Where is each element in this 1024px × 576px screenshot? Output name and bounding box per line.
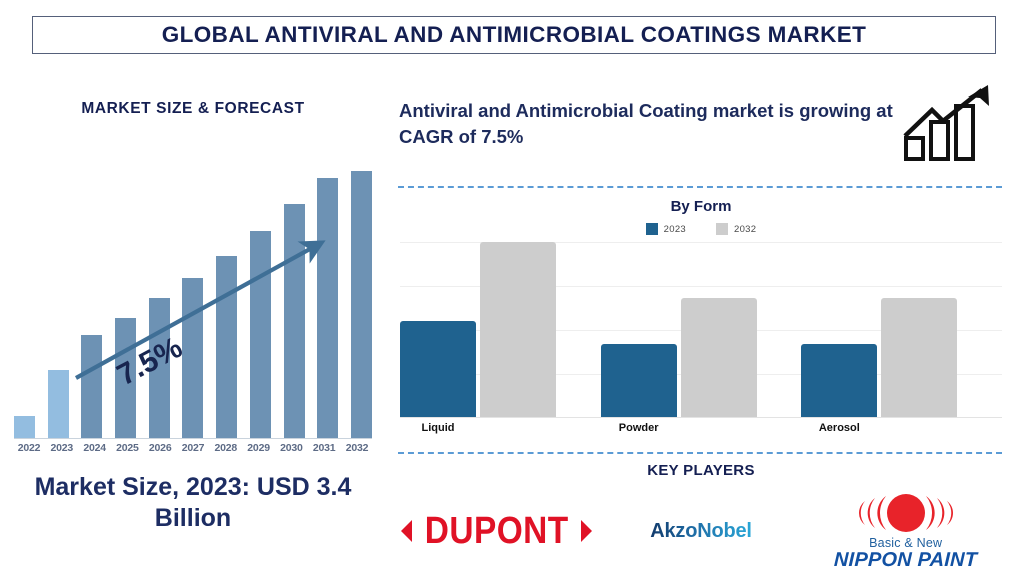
by-form-bar (480, 242, 556, 418)
forecast-bar (351, 171, 372, 438)
by-form-chart (400, 242, 1002, 418)
key-players-logos: DUPONT AkzoNobel Basic & New NIPPON PA (394, 486, 1008, 576)
page-title-box: GLOBAL ANTIVIRAL AND ANTIMICROBIAL COATI… (32, 16, 996, 54)
dupont-right-caret-icon (581, 520, 592, 542)
by-form-category-label: Liquid (422, 422, 455, 434)
nippon-tagline: Basic & New (869, 537, 942, 550)
page-title: GLOBAL ANTIVIRAL AND ANTIMICROBIAL COATI… (162, 22, 867, 48)
nippon-wordmark: NIPPON PAINT (834, 550, 978, 570)
forecast-bar (14, 416, 35, 438)
forecast-bar (317, 178, 338, 438)
legend-entry[interactable]: 2032 (716, 223, 756, 235)
by-form-legend: 20232032 (394, 223, 1008, 235)
by-form-bar (801, 344, 877, 418)
by-form-bar-groups (400, 242, 1002, 418)
forecast-bar (81, 335, 102, 438)
by-form-category: Powder (601, 422, 802, 442)
dupont-logo: DUPONT (401, 512, 592, 550)
divider-bottom (398, 452, 1002, 454)
legend-entry[interactable]: 2023 (646, 223, 686, 235)
by-form-category-label: Powder (619, 422, 659, 434)
divider-top (398, 186, 1002, 188)
by-form-bar-group (400, 242, 601, 418)
forecast-bar (216, 256, 237, 438)
by-form-title: By Form (394, 198, 1008, 215)
forecast-year-label: 2030 (276, 442, 306, 454)
market-size-caption: Market Size, 2023: USD 3.4 Billion (6, 472, 380, 533)
forecast-bar (284, 204, 305, 438)
forecast-year-label: 2032 (342, 442, 372, 454)
market-size-forecast-heading: MARKET SIZE & FORECAST (0, 100, 386, 118)
forecast-bar-series (14, 140, 372, 438)
by-form-category-label: Aerosol (819, 422, 860, 434)
forecast-year-label: 2022 (14, 442, 44, 454)
nippon-paint-logo: Basic & New NIPPON PAINT (834, 492, 977, 571)
legend-swatch (716, 223, 728, 235)
forecast-year-label: 2025 (112, 442, 142, 454)
legend-label: 2023 (664, 224, 686, 235)
by-form-bar (681, 298, 757, 418)
forecast-bar (48, 370, 69, 438)
forecast-baseline-axis (14, 438, 372, 439)
by-form-category: Aerosol (801, 422, 1002, 442)
forecast-year-label: 2031 (309, 442, 339, 454)
forecast-year-label: 2024 (80, 442, 110, 454)
cagr-statement: Antiviral and Antimicrobial Coating mark… (399, 98, 899, 151)
forecast-year-label: 2023 (47, 442, 77, 454)
forecast-year-label: 2026 (145, 442, 175, 454)
by-form-bar-group (801, 242, 1002, 418)
by-form-bar (400, 321, 476, 418)
forecast-year-label: 2027 (178, 442, 208, 454)
market-size-forecast-panel: MARKET SIZE & FORECAST 7.5% 202220232024… (0, 80, 386, 576)
logo-cell-dupont: DUPONT (394, 486, 599, 576)
by-form-category: Liquid (400, 422, 601, 442)
dupont-wordmark: DUPONT (424, 512, 568, 550)
nippon-sun-mark-icon (842, 492, 970, 534)
logo-cell-nippon-paint: Basic & New NIPPON PAINT (803, 486, 1008, 576)
by-form-category-labels: LiquidPowderAerosol (400, 422, 1002, 442)
bar-chart-growth-arrow-icon (902, 84, 1000, 162)
forecast-year-label: 2028 (211, 442, 241, 454)
by-form-bar-group (601, 242, 802, 418)
legend-swatch (646, 223, 658, 235)
akzonobel-logo: AkzoNobel (650, 520, 752, 543)
forecast-year-label: 2029 (244, 442, 274, 454)
forecast-bar (250, 231, 271, 438)
by-form-bar (881, 298, 957, 418)
dupont-left-caret-icon (401, 520, 412, 542)
forecast-year-axis-labels: 2022202320242025202620272028202920302031… (14, 442, 372, 454)
logo-cell-akzonobel: AkzoNobel (599, 486, 804, 576)
market-size-forecast-chart: 7.5% (14, 140, 372, 450)
right-panel: Antiviral and Antimicrobial Coating mark… (394, 80, 1008, 576)
by-form-baseline-axis (400, 417, 1002, 418)
by-form-bar (601, 344, 677, 418)
legend-label: 2032 (734, 224, 756, 235)
key-players-title: KEY PLAYERS (394, 462, 1008, 479)
